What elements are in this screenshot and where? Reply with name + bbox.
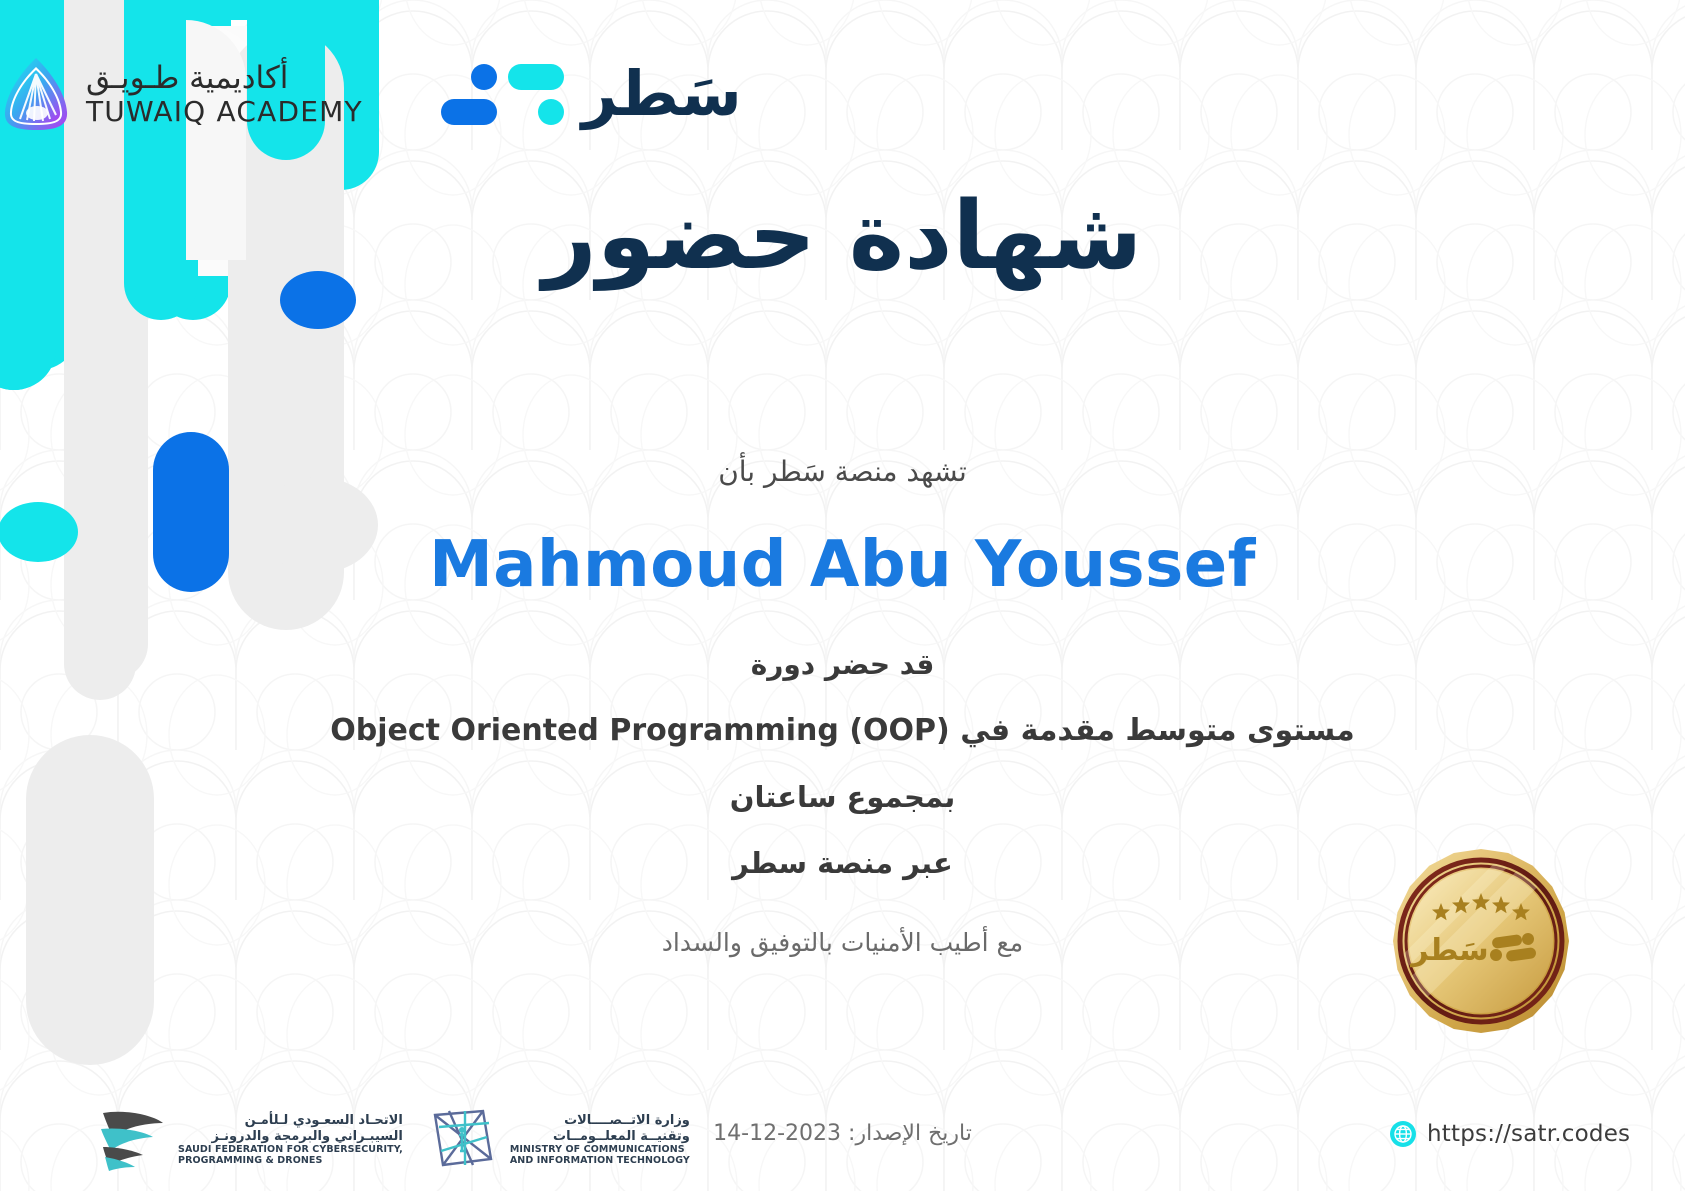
course-hours: بمجموع ساعتان xyxy=(0,780,1685,814)
satr-brand: سَطر xyxy=(441,63,742,125)
satr-mark-pill-blue xyxy=(441,99,497,125)
recipient-name: Mahmoud Abu Youssef xyxy=(0,528,1685,602)
satr-logo-mark xyxy=(441,64,564,125)
certificate-url[interactable]: https://satr.codes xyxy=(1390,1121,1630,1147)
tuwaiq-shield-icon xyxy=(0,55,72,133)
certificate-header: سَطر أكاديمية طـويـق TUWAIQ ACADEMY xyxy=(0,55,1685,133)
course-name: مستوى متوسط مقدمة في (Object Oriented Pr… xyxy=(0,713,1685,748)
satr-wordmark: سَطر xyxy=(582,63,742,125)
satr-mark-dot-cyan xyxy=(538,99,564,125)
globe-icon xyxy=(1390,1121,1416,1147)
satr-mark-pill-cyan xyxy=(508,64,564,90)
federation-en-line2: PROGRAMMING & DRONES xyxy=(178,1155,403,1166)
url-text: https://satr.codes xyxy=(1427,1121,1630,1147)
satr-mark-dot-blue xyxy=(471,64,497,90)
tuwaiq-arabic-name: أكاديمية طـويـق xyxy=(86,61,288,96)
certificate-canvas: سَطر أكاديمية طـويـق TUWAIQ ACADEMY xyxy=(0,0,1685,1191)
intro-line: تشهد منصة سَطر بأن xyxy=(0,455,1685,488)
ministry-en-line2: AND INFORMATION TECHNOLOGY xyxy=(510,1155,690,1166)
gold-seal-badge: سَطر xyxy=(1388,848,1574,1034)
tuwaiq-english-name: TUWAIQ ACADEMY xyxy=(86,96,363,127)
tuwaiq-brand: أكاديمية طـويـق TUWAIQ ACADEMY xyxy=(0,55,363,133)
certificate-title: شهادة حضور xyxy=(0,185,1685,288)
seal-wordmark: سَطر xyxy=(1409,933,1488,968)
attended-line: قد حضر دورة xyxy=(0,648,1685,681)
